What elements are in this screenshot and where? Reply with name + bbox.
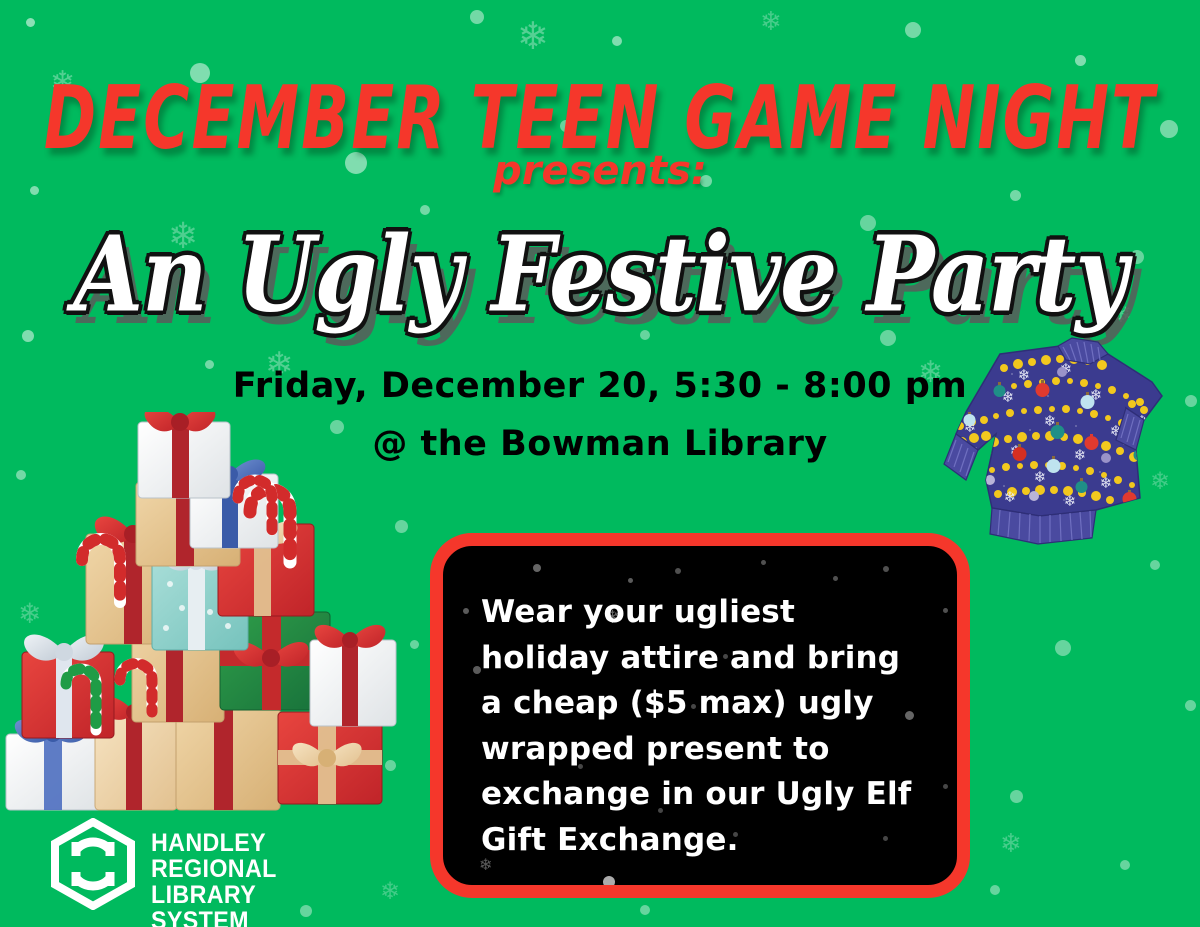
presents-label: presents: [0, 148, 1200, 194]
logo-line-2: LIBRARY SYSTEM [151, 882, 318, 927]
library-logo: HANDLEY REGIONAL LIBRARY SYSTEM WINCHEST… [47, 818, 317, 910]
logo-line-1: HANDLEY REGIONAL [151, 830, 318, 882]
svg-text:❄: ❄ [1004, 488, 1017, 506]
svg-text:❄: ❄ [1100, 474, 1113, 492]
svg-text:❄: ❄ [1064, 492, 1077, 510]
snowflake-icon: ❄ [380, 880, 400, 904]
svg-text:❄: ❄ [1074, 446, 1087, 464]
snowflake-icon: ❄ [1000, 830, 1022, 856]
hexagon-logo-icon [47, 818, 139, 910]
ugly-christmas-sweater-illustration: ❄ ❄ ❄ ❄ ❄ ❄ ❄ ❄ ❄ ❄ ❄ ❄ ❄ ❄ ❄ [900, 330, 1190, 560]
page-title: An Ugly Festive Party [0, 213, 1200, 336]
snowflake-icon: ❄ [517, 18, 549, 56]
svg-text:❄: ❄ [1018, 366, 1031, 384]
event-poster: ❄ ❄ ❄ ❄ ❄ ❄ ❄ ❄ ❄ ❄ ❄ DECEMBER TEEN GAME… [0, 0, 1200, 927]
instructions-text: Wear your ugliest holiday attire and bri… [481, 590, 927, 863]
snowflake-icon: ❄ [760, 8, 782, 34]
instructions-callout: ❄ ❄ Wear your ugliest holiday attire and… [430, 533, 970, 898]
gift-stack-illustration [0, 412, 420, 832]
svg-text:❄: ❄ [1034, 468, 1047, 486]
